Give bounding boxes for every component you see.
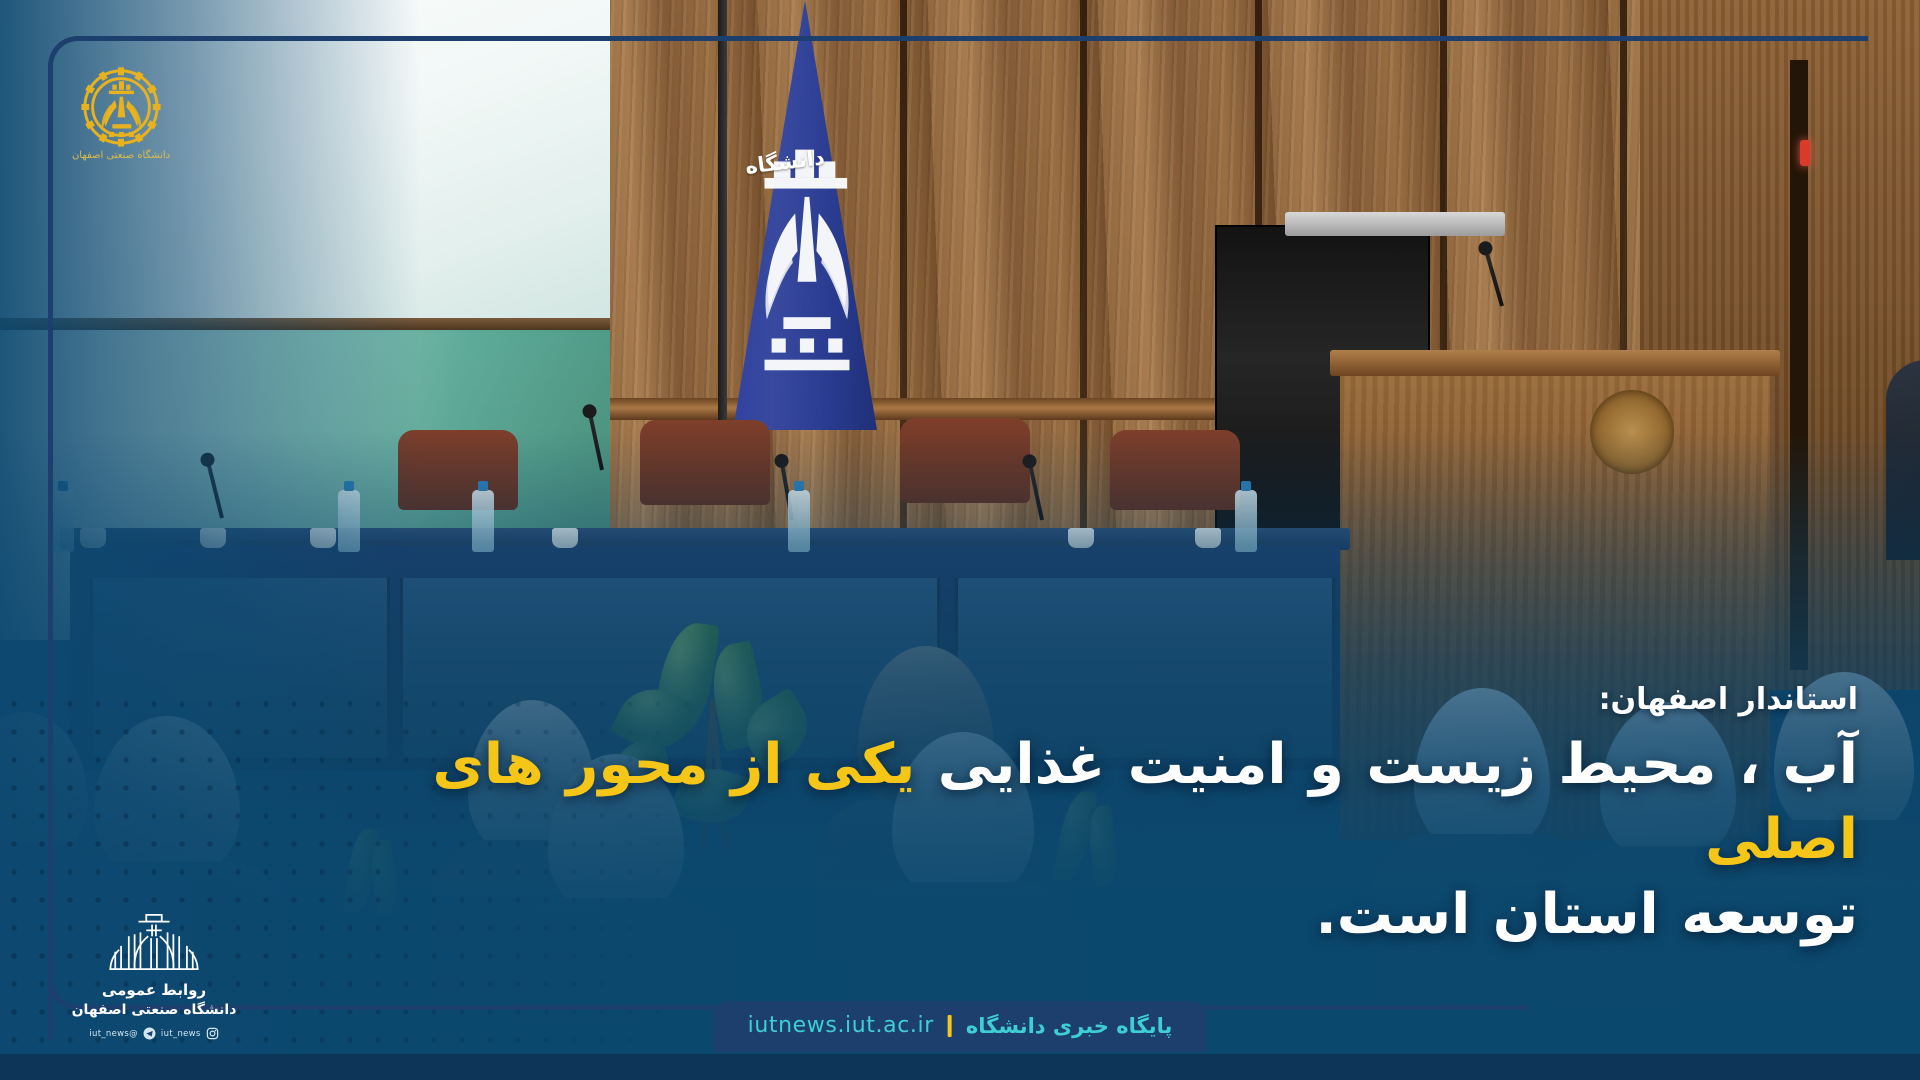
telegram-handle: @iut_news [89, 1029, 138, 1039]
site-label-fa: پایگاه خبری دانشگاه [966, 1014, 1173, 1038]
frame-left-line [48, 140, 53, 1040]
headline-line2: توسعه استان است. [1315, 882, 1858, 947]
telegram-icon[interactable] [143, 1027, 156, 1040]
iut-monument-icon [95, 911, 213, 973]
bottom-strip [0, 1054, 1920, 1080]
flag-pole [718, 0, 727, 430]
pr-social-row: iut_news @iut_news [60, 1027, 248, 1040]
pr-line-2: دانشگاه صنعتی اصفهان [60, 1002, 248, 1018]
site-url[interactable]: iutnews.iut.ac.ir [748, 1013, 934, 1038]
news-site-pill[interactable]: پایگاه خبری دانشگاه iutnews.iut.ac.ir [714, 1001, 1207, 1052]
instagram-icon[interactable] [206, 1027, 219, 1040]
indicator-led [1800, 140, 1810, 166]
headline-line1-part1: آب ، محیط زیست و امنیت غذایی [938, 732, 1858, 797]
headline-kicker: استاندار اصفهان: [358, 681, 1858, 719]
instagram-handle: iut_news [161, 1029, 201, 1039]
av-top-device [1285, 212, 1505, 236]
iut-gear-crest-icon [78, 64, 164, 150]
news-card: دانشگاه [0, 0, 1920, 1080]
flag-emblem-icon [748, 140, 866, 400]
headline-text: آب ، محیط زیست و امنیت غذایی یکی از محور… [358, 727, 1858, 952]
pill-separator [948, 1015, 952, 1037]
pr-line-1: روابط عمومی [60, 981, 248, 999]
podium-top [1330, 350, 1780, 376]
crest-caption: دانشگاه صنعتی اصفهان [62, 150, 180, 161]
public-relations-logo: روابط عمومی دانشگاه صنعتی اصفهان iut_new… [60, 911, 248, 1040]
headline-block: استاندار اصفهان: آب ، محیط زیست و امنیت … [358, 681, 1858, 952]
